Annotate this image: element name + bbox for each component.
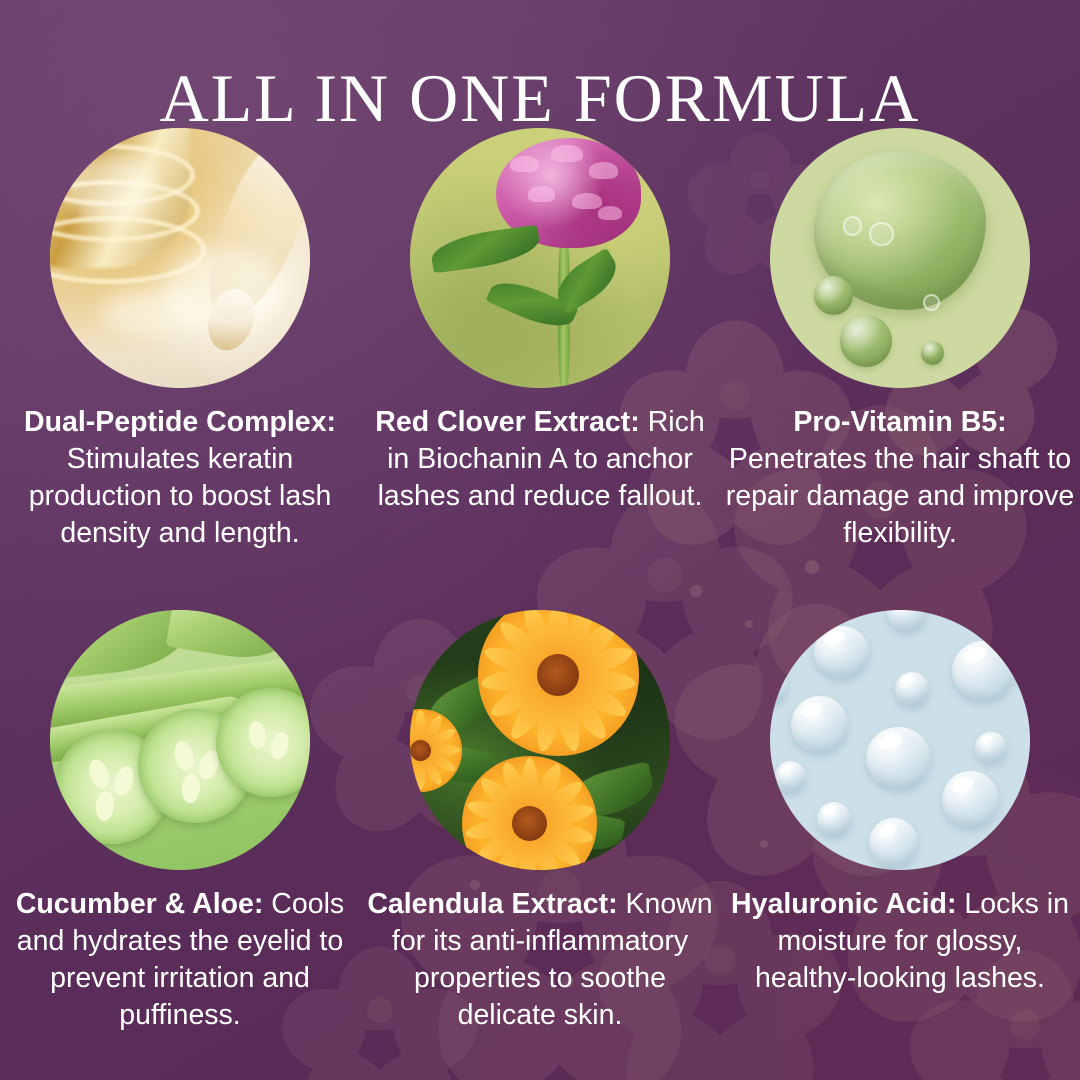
ingredient-heading: Dual-Peptide Complex: — [24, 406, 336, 438]
ingredient-heading: Cucumber & Aloe: — [16, 888, 264, 920]
ingredient-heading: Red Clover Extract: — [375, 406, 640, 438]
ingredient-caption: Red Clover Extract: Rich in Biochanin A … — [365, 404, 715, 515]
ingredient-description: Penetrates the hair shaft to repair dama… — [726, 443, 1075, 549]
ingredient-heading: Calendula Extract: — [367, 888, 617, 920]
calendula-flower-photo — [410, 610, 670, 870]
ingredient-description: Stimulates keratin production to boost l… — [29, 443, 332, 549]
ingredient-card-calendula-extract: Calendula Extract: Known for its anti-in… — [360, 610, 720, 1080]
ingredient-caption: Calendula Extract: Known for its anti-in… — [365, 886, 715, 1034]
ingredient-card-dual-peptide-complex: Dual-Peptide Complex: Stimulates keratin… — [0, 128, 360, 610]
ingredient-card-hyaluronic-acid: Hyaluronic Acid: Locks in moisture for g… — [720, 610, 1080, 1080]
ingredient-caption: Pro-Vitamin B5: Penetrates the hair shaf… — [725, 404, 1075, 552]
ingredient-card-pro-vitamin-b5: Pro-Vitamin B5: Penetrates the hair shaf… — [720, 128, 1080, 610]
poster-canvas: ALL IN ONE FORMULA Dual-Peptide Comp — [0, 0, 1080, 1080]
ingredient-caption: Dual-Peptide Complex: Stimulates keratin… — [5, 404, 355, 552]
water-droplets-photo — [770, 610, 1030, 870]
ingredient-caption: Hyaluronic Acid: Locks in moisture for g… — [725, 886, 1075, 997]
ingredient-heading: Hyaluronic Acid: — [731, 888, 956, 920]
ingredient-grid: Dual-Peptide Complex: Stimulates keratin… — [0, 128, 1080, 1080]
page-title: ALL IN ONE FORMULA — [0, 64, 1080, 132]
cucumber-aloe-photo — [50, 610, 310, 870]
red-clover-flower-photo — [410, 128, 670, 388]
ingredient-caption: Cucumber & Aloe: Cools and hydrates the … — [5, 886, 355, 1034]
ingredient-card-cucumber-and-aloe: Cucumber & Aloe: Cools and hydrates the … — [0, 610, 360, 1080]
ingredient-card-red-clover-extract: Red Clover Extract: Rich in Biochanin A … — [360, 128, 720, 610]
green-gel-texture-photo — [770, 128, 1030, 388]
serum-dropper-photo — [50, 128, 310, 388]
ingredient-heading: Pro-Vitamin B5: — [793, 406, 1006, 438]
